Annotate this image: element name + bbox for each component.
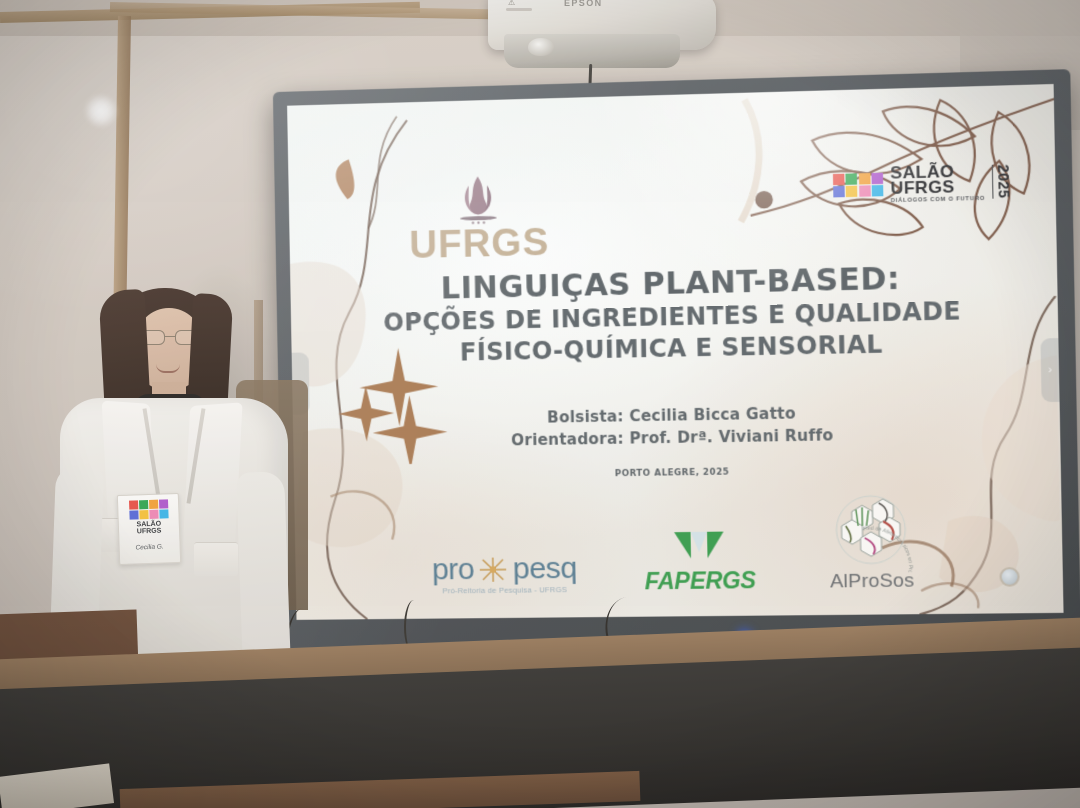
- interactive-whiteboard[interactable]: UFRGS SALÃO: [273, 69, 1080, 654]
- propesq-wordmark: pro pesq: [432, 553, 578, 585]
- ufrgs-wordmark: UFRGS: [383, 223, 576, 266]
- salao-swatch: [872, 173, 884, 185]
- whiteboard-screen[interactable]: UFRGS SALÃO: [287, 84, 1063, 620]
- chevron-right-icon: ›: [1048, 364, 1052, 376]
- salao-swatch: [846, 186, 858, 198]
- lab-coat-pocket-right: [194, 542, 238, 576]
- salao-ufrgs-logo: SALÃO UFRGS DIÁLOGOS COM O FUTURO 2025: [832, 162, 1012, 206]
- salao-swatch: [859, 186, 871, 198]
- salao-swatch: [858, 173, 870, 185]
- badge-swatch: [128, 500, 137, 509]
- sponsor-logos: pro pesq: [294, 492, 1063, 596]
- ufrgs-flame-icon: [450, 172, 506, 228]
- presentation-photo: ⚠ EPSON: [0, 0, 1080, 808]
- warning-icon: ⚠: [508, 0, 515, 7]
- propesq-part2: pesq: [512, 553, 577, 584]
- badge-name: Cecilia G.: [124, 543, 176, 552]
- propesq-subtitle: Pró-Reitoria de Pesquisa - UFRGS: [432, 585, 577, 596]
- salao-swatch: [833, 186, 845, 198]
- projector-lens: [528, 38, 554, 56]
- salao-line2: UFRGS: [890, 178, 985, 196]
- badge-line2: UFRGS: [123, 527, 175, 536]
- light-reflection-spot: [84, 94, 118, 128]
- badge-swatch: [149, 510, 158, 519]
- fapergs-logo: FAPERGS: [644, 529, 756, 593]
- salao-swatch: [845, 173, 857, 185]
- slide-authors: Bolsista: Cecilia Bicca Gatto Orientador…: [293, 399, 1061, 455]
- badge-swatch: [159, 509, 168, 518]
- whiteboard-right-toolbar-handle[interactable]: ›: [1040, 338, 1059, 402]
- salao-swatch: [832, 174, 844, 186]
- propesq-star-icon: [476, 554, 511, 585]
- fapergs-wordmark: FAPERGS: [645, 569, 756, 594]
- badge-swatch: [158, 499, 167, 508]
- salao-wordmark: SALÃO UFRGS DIÁLOGOS COM O FUTURO: [890, 162, 985, 204]
- glasses-bridge: [165, 336, 175, 337]
- badge-swatch: [139, 510, 148, 519]
- fapergs-mark-icon: [668, 529, 730, 562]
- salao-tagline: DIÁLOGOS COM O FUTURO: [891, 197, 985, 205]
- conference-badge: SALÃO UFRGS Cecilia G.: [117, 493, 181, 565]
- slide-title: LINGUIÇAS PLANT-BASED: OPÇÕES DE INGREDI…: [290, 258, 1059, 371]
- projector-brand-label: EPSON: [564, 0, 603, 8]
- ufrgs-logo: UFRGS: [382, 170, 576, 265]
- badge-swatch: [129, 510, 138, 519]
- presentation-slide: UFRGS SALÃO: [287, 84, 1063, 620]
- propesq-logo: pro pesq: [432, 553, 578, 595]
- projector-vent: [506, 8, 532, 11]
- salao-year: 2025: [992, 164, 1013, 199]
- badge-swatch: [138, 500, 147, 509]
- alprosos-logo: Red de Alimentos ricos en Proteínas regi…: [823, 494, 921, 591]
- ceiling-projector: ⚠ EPSON: [480, 0, 730, 76]
- salao-color-grid: [832, 173, 883, 198]
- alprosos-wordmark: AlProSos: [824, 571, 920, 591]
- propesq-part1: pro: [432, 555, 475, 586]
- badge-color-grid: [122, 499, 175, 520]
- slide-place-date: PORTO ALEGRE, 2025: [294, 462, 1061, 483]
- badge-swatch: [148, 500, 157, 509]
- alprosos-hexagon-icon: Red de Alimentos ricos en Proteínas regi…: [823, 494, 920, 573]
- salao-swatch: [872, 185, 884, 197]
